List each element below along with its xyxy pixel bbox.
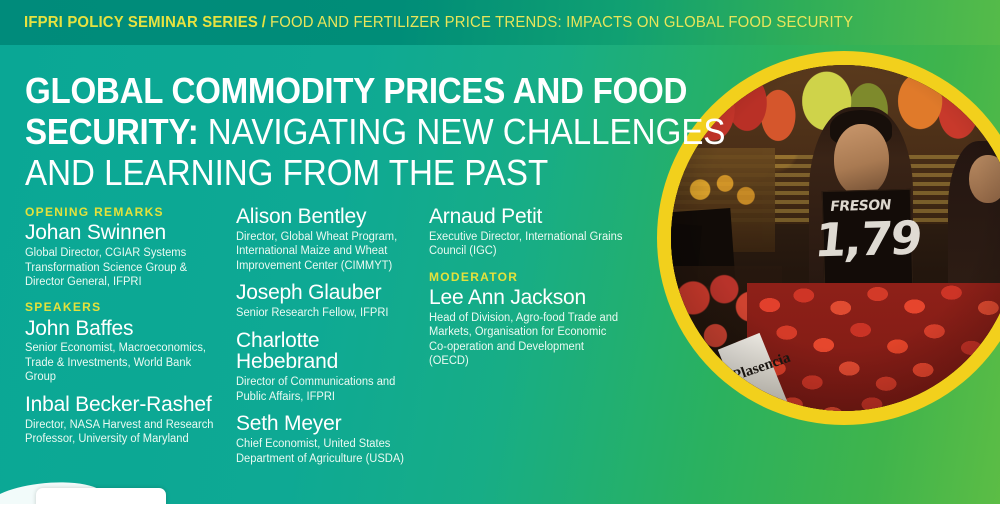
- speaker-name: John Baffes: [25, 318, 225, 340]
- ribbon-separator: /: [258, 14, 270, 31]
- section-label-opening-remarks: OPENING REMARKS: [25, 206, 225, 219]
- speaker-name: Seth Meyer: [236, 413, 421, 435]
- speaker-role: Executive Director, International Grains…: [429, 230, 623, 259]
- speaker-role: Senior Economist, Macroeconomics, Trade …: [25, 341, 219, 384]
- speaker-name: Charlotte Hebebrand: [236, 330, 421, 374]
- speaker-role: Director, NASA Harvest and Research Prof…: [25, 418, 219, 447]
- speaker-name: Joseph Glauber: [236, 282, 421, 304]
- headline-line-2: SECURITY: NAVIGATING NEW CHALLENGES: [25, 113, 614, 152]
- section-label-moderator: MODERATOR: [429, 271, 629, 284]
- speaker-arnaud-petit: Arnaud Petit Executive Director, Interna…: [429, 206, 629, 259]
- headline-line-3-text: AND LEARNING FROM THE PAST: [25, 152, 548, 193]
- speaker-name: Alison Bentley: [236, 206, 421, 228]
- speaker-name: Arnaud Petit: [429, 206, 629, 228]
- photo-yellow-ring: FRESON 1,79 Plasencia: [657, 51, 1000, 425]
- moderator-lee-ann-jackson: Lee Ann Jackson Head of Division, Agro-f…: [429, 287, 629, 369]
- speaker-role: Senior Research Fellow, IFPRI: [236, 306, 415, 320]
- speaker-name: Johan Swinnen: [25, 222, 225, 244]
- speaker-inbal-becker-rashef: Inbal Becker-Rashef Director, NASA Harve…: [25, 394, 225, 447]
- ribbon-topic: FOOD AND FERTILIZER PRICE TRENDS: IMPACT…: [270, 14, 853, 31]
- ribbon-text: IFPRI POLICY SEMINAR SERIES/FOOD AND FER…: [0, 15, 853, 31]
- headline-line-2-bold: SECURITY:: [25, 111, 199, 152]
- moderator-role: Head of Division, Agro-food Trade and Ma…: [429, 311, 623, 369]
- speaker-column-3: Arnaud Petit Executive Director, Interna…: [429, 206, 629, 378]
- seminar-poster: IFPRI POLICY SEMINAR SERIES/FOOD AND FER…: [0, 0, 1000, 507]
- headline-line-1: GLOBAL COMMODITY PRICES AND FOOD: [25, 72, 614, 111]
- speaker-role: Chief Economist, United States Departmen…: [236, 437, 415, 466]
- speaker-column-2: Alison Bentley Director, Global Wheat Pr…: [236, 206, 421, 475]
- speaker-charlotte-hebebrand: Charlotte Hebebrand Director of Communic…: [236, 330, 421, 405]
- speaker-column-1: OPENING REMARKS Johan Swinnen Global Dir…: [25, 206, 225, 456]
- headline-line-1-text: GLOBAL COMMODITY PRICES AND FOOD: [25, 70, 687, 111]
- speaker-name: Inbal Becker-Rashef: [25, 394, 225, 416]
- speaker-john-baffes: John Baffes Senior Economist, Macroecono…: [25, 318, 225, 385]
- speaker-joseph-glauber: Joseph Glauber Senior Research Fellow, I…: [236, 282, 421, 320]
- speaker-role: Director, Global Wheat Program, Internat…: [236, 230, 415, 273]
- headline-line-3: AND LEARNING FROM THE PAST: [25, 154, 614, 193]
- speaker-johan-swinnen: Johan Swinnen Global Director, CGIAR Sys…: [25, 222, 225, 289]
- speaker-seth-meyer: Seth Meyer Chief Economist, United State…: [236, 413, 421, 466]
- ribbon-series-label: IFPRI POLICY SEMINAR SERIES: [24, 14, 258, 31]
- section-label-speakers: SPEAKERS: [25, 301, 225, 314]
- speaker-role: Director of Communications and Public Af…: [236, 375, 415, 404]
- speaker-alison-bentley: Alison Bentley Director, Global Wheat Pr…: [236, 206, 421, 273]
- speaker-role: Global Director, CGIAR Systems Transform…: [25, 246, 219, 289]
- headline-line-2-normal: NAVIGATING NEW CHALLENGES: [208, 111, 726, 152]
- moderator-name: Lee Ann Jackson: [429, 287, 629, 309]
- seminar-series-ribbon: IFPRI POLICY SEMINAR SERIES/FOOD AND FER…: [0, 0, 1000, 45]
- page-title: GLOBAL COMMODITY PRICES AND FOOD SECURIT…: [25, 72, 665, 195]
